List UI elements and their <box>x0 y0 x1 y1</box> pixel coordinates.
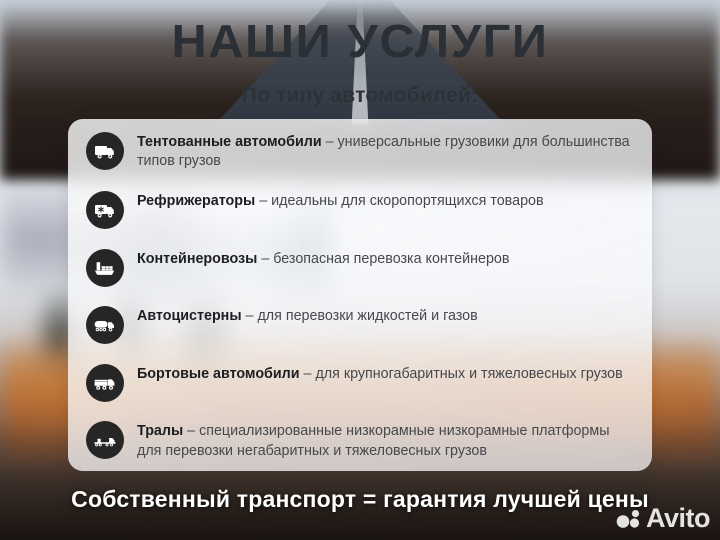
avito-logo-icon <box>616 509 642 529</box>
list-item: Тралы – специализированные низкорамные н… <box>86 420 634 461</box>
list-item-text: Рефрижераторы – идеальны для скоропортящ… <box>137 190 544 211</box>
list-item-text: Контейнеровозы – безопасная перевозка ко… <box>137 248 509 269</box>
refrigerator-truck-icon <box>86 191 124 229</box>
container-ship-icon <box>86 249 124 287</box>
service-term: Автоцистерны <box>137 308 242 324</box>
list-item: Автоцистерны – для перевозки жидкостей и… <box>86 305 634 344</box>
list-item-text: Автоцистерны – для перевозки жидкостей и… <box>137 305 478 326</box>
list-item-text: Тентованные автомобили – универсальные г… <box>137 131 634 172</box>
service-term: Рефрижераторы <box>137 193 255 209</box>
list-item: Рефрижераторы – идеальны для скоропортящ… <box>86 190 634 229</box>
page-subtitle: По типу автомобилей: <box>0 84 720 108</box>
tanker-truck-icon <box>86 306 124 344</box>
service-description: – безопасная перевозка контейнеров <box>257 251 509 267</box>
avito-watermark-text: Avito <box>646 503 710 534</box>
service-description: – специализированные низкорамные низкора… <box>137 423 609 458</box>
avito-watermark: Avito <box>616 503 710 534</box>
list-item: Контейнеровозы – безопасная перевозка ко… <box>86 248 634 287</box>
lowboy-trailer-icon <box>86 421 124 459</box>
page-title: НАШИ УСЛУГИ <box>0 18 720 64</box>
list-item: Бортовые автомобили – для крупногабаритн… <box>86 363 634 402</box>
list-item-text: Бортовые автомобили – для крупногабаритн… <box>137 363 623 384</box>
footer-tagline: Собственный транспорт = гарантия лучшей … <box>0 486 720 513</box>
flatbed-truck-icon <box>86 364 124 402</box>
box-truck-icon <box>86 132 124 170</box>
service-term: Бортовые автомобили <box>137 366 300 382</box>
service-description: – идеальны для скоропортящихся товаров <box>255 193 543 209</box>
service-term: Тентованные автомобили <box>137 134 322 150</box>
service-term: Тралы <box>137 423 183 439</box>
service-term: Контейнеровозы <box>137 251 257 267</box>
list-item-text: Тралы – специализированные низкорамные н… <box>137 420 634 461</box>
service-description: – для крупногабаритных и тяжеловесных гр… <box>300 366 623 382</box>
list-item: Тентованные автомобили – универсальные г… <box>86 131 634 172</box>
services-card: Тентованные автомобили – универсальные г… <box>68 119 652 471</box>
service-description: – для перевозки жидкостей и газов <box>242 308 478 324</box>
